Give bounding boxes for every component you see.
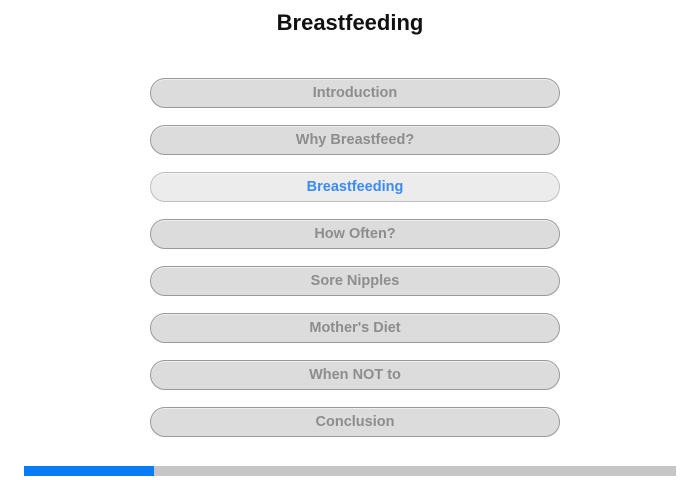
page-title: Breastfeeding xyxy=(0,10,700,36)
slide-page: Breastfeeding IntroductionWhy Breastfeed… xyxy=(0,0,700,480)
nav-button-conclusion[interactable]: Conclusion xyxy=(150,407,560,437)
nav-button-breastfeeding[interactable]: Breastfeeding xyxy=(150,172,560,202)
progress-fill xyxy=(24,466,154,476)
progress-track[interactable] xyxy=(24,466,676,476)
nav-button-mother-s-diet[interactable]: Mother's Diet xyxy=(150,313,560,343)
nav-button-sore-nipples[interactable]: Sore Nipples xyxy=(150,266,560,296)
nav-button-why-breastfeed[interactable]: Why Breastfeed? xyxy=(150,125,560,155)
nav-list: IntroductionWhy Breastfeed?Breastfeeding… xyxy=(150,78,560,454)
nav-button-when-not-to[interactable]: When NOT to xyxy=(150,360,560,390)
nav-button-introduction[interactable]: Introduction xyxy=(150,78,560,108)
nav-button-how-often[interactable]: How Often? xyxy=(150,219,560,249)
